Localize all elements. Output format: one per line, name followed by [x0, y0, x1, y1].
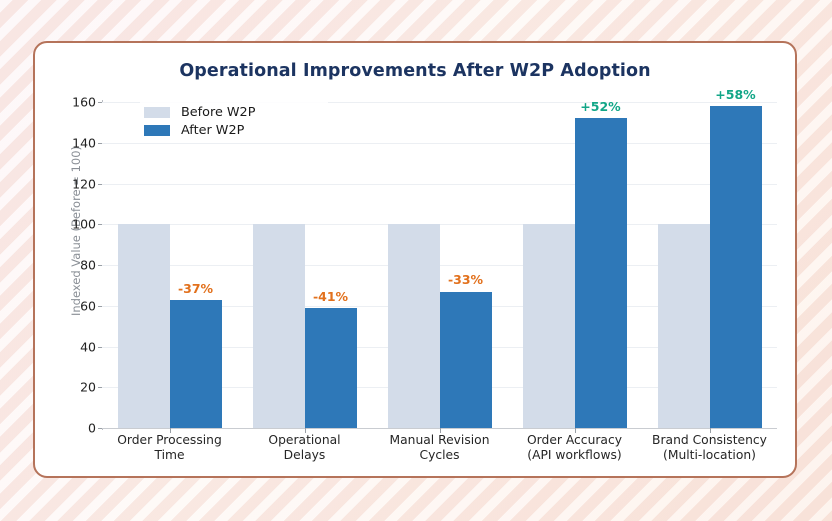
bar-after-1[interactable] — [305, 308, 357, 428]
x-label-line: (API workflows) — [507, 448, 642, 463]
x-label-line: Delays — [237, 448, 372, 463]
bar-before-0[interactable] — [118, 224, 170, 428]
legend-label-0: Before W2P — [181, 105, 255, 120]
bar-after-4[interactable] — [710, 106, 762, 428]
x-category-label-4: Brand Consistency(Multi-location) — [642, 433, 777, 463]
x-axis-category-labels: Order ProcessingTimeOperationalDelaysMan… — [102, 433, 777, 477]
x-category-label-1: OperationalDelays — [237, 433, 372, 463]
x-label-line: Order Processing — [102, 433, 237, 448]
plot-area — [102, 102, 777, 428]
legend-label-1: After W2P — [181, 123, 244, 138]
legend-swatch-0 — [144, 107, 170, 118]
x-category-label-2: Manual RevisionCycles — [372, 433, 507, 463]
bar-annotation-2: -33% — [426, 272, 506, 287]
gridline-120 — [102, 184, 777, 185]
x-label-line: Order Accuracy — [507, 433, 642, 448]
bar-after-2[interactable] — [440, 292, 492, 429]
x-label-line: (Multi-location) — [642, 448, 777, 463]
x-category-label-3: Order Accuracy(API workflows) — [507, 433, 642, 463]
x-label-line: Cycles — [372, 448, 507, 463]
legend-swatch-1 — [144, 125, 170, 136]
bar-before-3[interactable] — [523, 224, 575, 428]
x-label-line: Operational — [237, 433, 372, 448]
page-background: Operational Improvements After W2P Adopt… — [0, 0, 832, 521]
x-label-line: Time — [102, 448, 237, 463]
x-label-line: Brand Consistency — [642, 433, 777, 448]
chart-card: Operational Improvements After W2P Adopt… — [33, 41, 797, 478]
bar-annotation-3: +52% — [561, 99, 641, 114]
chart-title: Operational Improvements After W2P Adopt… — [35, 61, 795, 81]
gridline-140 — [102, 143, 777, 144]
bar-before-4[interactable] — [658, 224, 710, 428]
bar-annotation-1: -41% — [291, 289, 371, 304]
y-axis-tick-marks — [35, 102, 105, 428]
x-label-line: Manual Revision — [372, 433, 507, 448]
bar-before-2[interactable] — [388, 224, 440, 428]
bar-before-1[interactable] — [253, 224, 305, 428]
chart-legend: Before W2PAfter W2P — [140, 100, 328, 142]
bar-annotation-0: -37% — [156, 281, 236, 296]
bar-annotation-4: +58% — [696, 87, 776, 102]
x-category-label-0: Order ProcessingTime — [102, 433, 237, 463]
legend-item-0[interactable]: Before W2P — [144, 103, 324, 121]
legend-item-1[interactable]: After W2P — [144, 121, 324, 139]
bar-after-3[interactable] — [575, 118, 627, 428]
bar-after-0[interactable] — [170, 300, 222, 428]
